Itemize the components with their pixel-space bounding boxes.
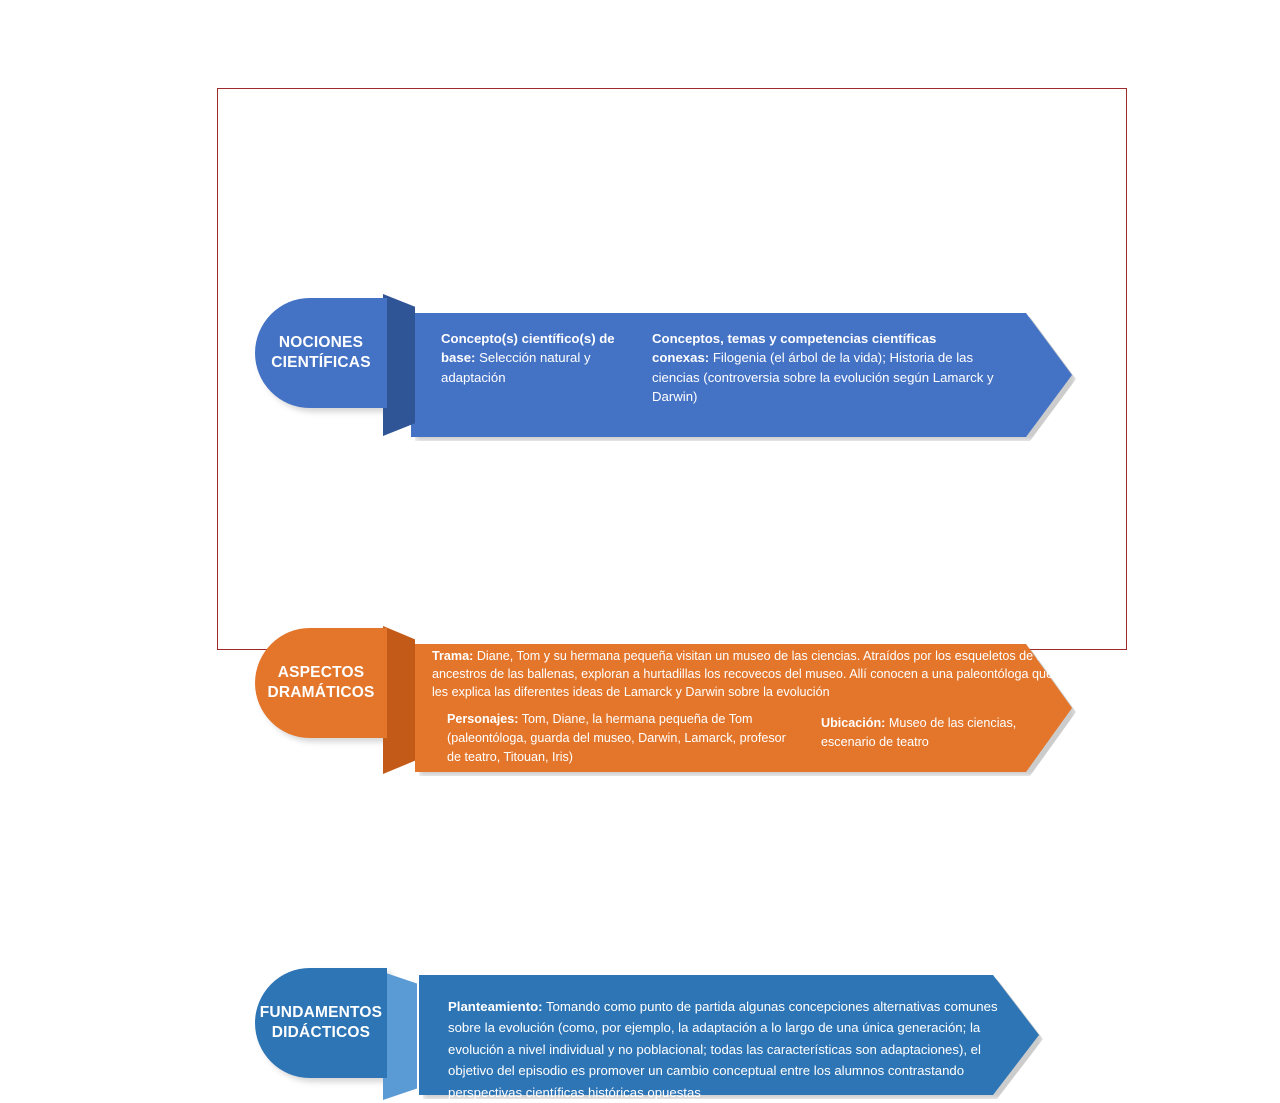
nociones-category-pill[interactable]: NOCIONES CIENTÍFICAS <box>255 298 387 408</box>
aspectos-label-line2: DRAMÁTICOS <box>267 684 374 701</box>
diagram-row-fundamentos-didacticos: FUNDAMENTOS DIDÁCTICOS Planteamiento: To… <box>0 484 1280 616</box>
fundamentos-planteamiento-block: Planteamiento: Tomando como punto de par… <box>448 996 1004 1103</box>
fundamentos-label-line1: FUNDAMENTOS <box>260 1004 382 1021</box>
diagram-row-nociones-cientificas: NOCIONES CIENTÍFICAS Concepto(s) científ… <box>0 148 1280 290</box>
fundamentos-fold-tab <box>383 972 417 1100</box>
aspectos-trama-body: Diane, Tom y su hermana pequeña visitan … <box>432 649 1053 699</box>
aspectos-fold-tab <box>383 626 415 774</box>
aspectos-category-pill[interactable]: ASPECTOS DRAMÁTICOS <box>255 628 387 738</box>
nociones-fold-tab <box>383 294 415 436</box>
fundamentos-label-line2: DIDÁCTICOS <box>272 1024 370 1041</box>
fundamentos-planteamiento-heading: Planteamiento: <box>448 999 543 1014</box>
fundamentos-category-pill[interactable]: FUNDAMENTOS DIDÁCTICOS <box>255 968 387 1078</box>
nociones-concepto-base-block: Concepto(s) científico(s) de base: Selec… <box>441 329 641 387</box>
aspectos-trama-block: Trama: Diane, Tom y su hermana pequeña v… <box>432 648 1055 702</box>
aspectos-personajes-block: Personajes: Tom, Diane, la hermana peque… <box>447 710 787 767</box>
aspectos-personajes-heading: Personajes: <box>447 712 518 726</box>
nociones-label-line2: CIENTÍFICAS <box>271 354 371 371</box>
nociones-conceptos-conexos-block: Conceptos, temas y competencias científi… <box>652 329 997 407</box>
fundamentos-planteamiento-body: Tomando como punto de partida algunas co… <box>448 999 998 1100</box>
aspectos-trama-heading: Trama: <box>432 649 473 663</box>
aspectos-label-line1: ASPECTOS <box>278 664 365 681</box>
aspectos-ubicacion-heading: Ubicación: <box>821 716 885 730</box>
nociones-label-line1: NOCIONES <box>279 334 363 351</box>
